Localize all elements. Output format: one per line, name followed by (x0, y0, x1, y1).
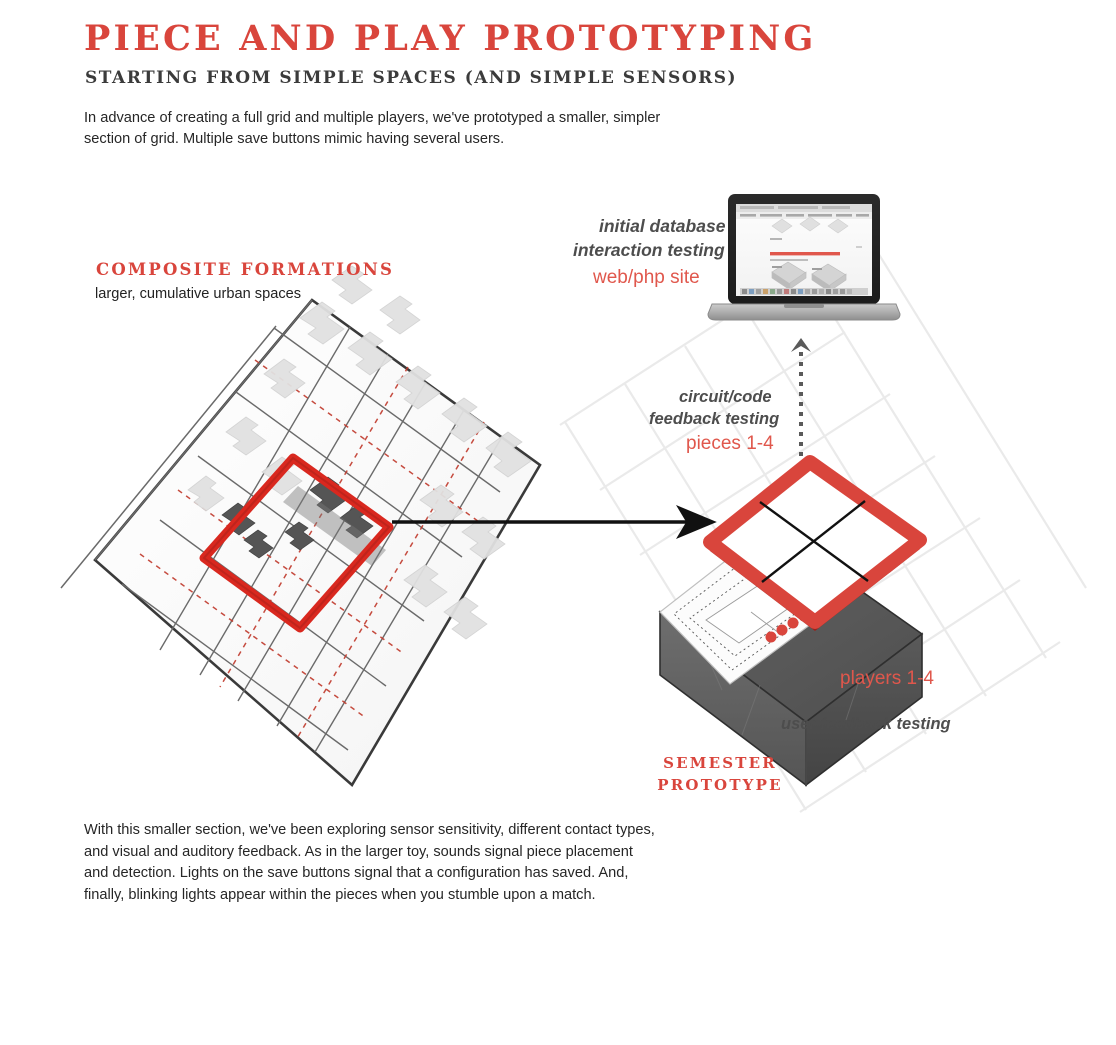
composite-formation-plate (61, 266, 540, 785)
circuit-caption-line1: circuit/code (679, 388, 772, 407)
page-title: PIECE AND PLAY PROTOTYPING (84, 18, 817, 59)
web-php-site-label: web/php site (593, 267, 700, 289)
laptop-caption-line1: initial database (599, 216, 725, 237)
pieces-1-4-label: pieces 1-4 (686, 433, 774, 455)
composite-formations-subtitle: larger, cumulative urban spaces (95, 286, 301, 302)
user-feedback-testing-label: user feedback testing (781, 715, 951, 734)
closing-paragraph: With this smaller section, we've been ex… (84, 820, 659, 906)
circuit-caption-line2: feedback testing (649, 410, 779, 429)
composite-formations-title: COMPOSITE FORMATIONS (96, 260, 394, 279)
laptop-caption-line2: interaction testing (573, 240, 725, 261)
page-subtitle: STARTING FROM SIMPLE SPACES (AND SIMPLE … (85, 68, 737, 88)
semester-prototype-model (660, 462, 922, 785)
diagram-canvas: COMPOSITE FORMATIONS larger, cumulative … (0, 160, 1116, 820)
laptop-illustration (708, 194, 900, 320)
players-1-4-label: players 1-4 (840, 668, 934, 690)
intro-paragraph: In advance of creating a full grid and m… (84, 108, 684, 150)
semester-prototype-label: SEMESTER PROTOTYPE (655, 752, 785, 796)
